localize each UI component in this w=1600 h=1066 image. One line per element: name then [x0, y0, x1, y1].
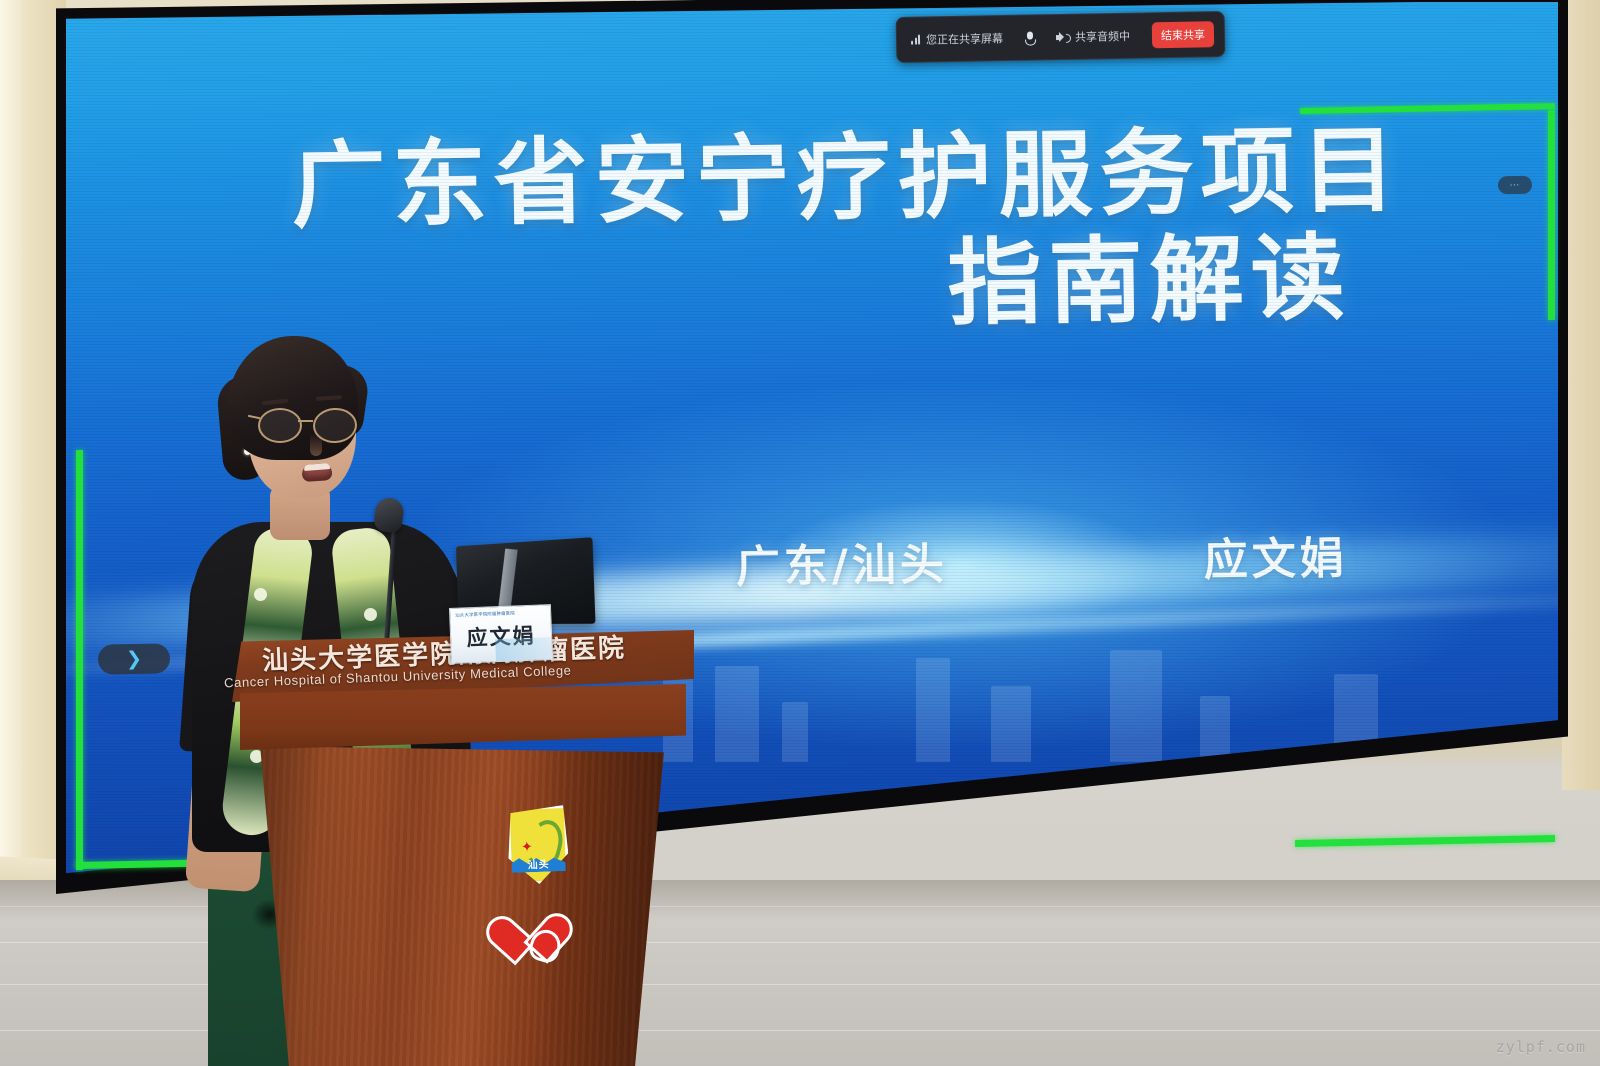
mic-toggle[interactable] [1025, 31, 1034, 44]
more-dots-icon: ⋯ [1509, 179, 1520, 190]
slide-title: 广东省安宁疗护服务项目 指南解读 [231, 116, 1464, 349]
chevron-right-icon: ❯ [126, 649, 142, 668]
university-crest-icon: ✦ 汕头 [507, 805, 570, 885]
heart-logo-icon [508, 908, 575, 973]
microphone-icon [1025, 31, 1034, 44]
nameplate-graphic [495, 637, 552, 661]
speaker-icon [1056, 31, 1069, 42]
signal-bars-icon [911, 35, 920, 45]
wall-panel-left-inner [0, 0, 22, 905]
slide-title-line-2: 指南解读 [233, 223, 1464, 348]
share-border-left [76, 450, 83, 870]
crest-label: 汕头 [508, 855, 568, 872]
more-options-button[interactable]: ⋯ [1498, 176, 1532, 195]
end-share-button[interactable]: 结束共享 [1152, 21, 1214, 48]
slide-title-line-1: 广东省安宁疗护服务项目 [231, 116, 1462, 241]
watermark: zylpf.com [1496, 1038, 1586, 1056]
expand-toolbar-button[interactable]: ❯ [98, 643, 171, 674]
podium-front-panel [240, 684, 686, 750]
nameplate-org: 汕头大学医学院附属肿瘤医院 [455, 610, 515, 618]
share-border-right [1548, 110, 1555, 320]
share-status: 您正在共享屏幕 [911, 30, 1003, 48]
slide-presenter-name: 应文娟 [1203, 522, 1348, 588]
slide-presenter-location: 广东/汕头 [735, 528, 948, 595]
screen-share-toolbar[interactable]: 您正在共享屏幕 共享音频中 结束共享 [896, 11, 1226, 63]
podium [232, 630, 694, 1066]
podium-shading [256, 746, 668, 1066]
speaker-nose [310, 434, 322, 456]
share-status-label: 您正在共享屏幕 [926, 30, 1003, 47]
screenshot-root: 广东省安宁疗护服务项目 指南解读 广东/汕头 应文娟 ❯ ⋯ 您正在共享屏幕 [0, 0, 1600, 1066]
audio-share-status[interactable]: 共享音频中 [1056, 28, 1130, 45]
speaker-nameplate: 汕头大学医学院附属肿瘤医院 应文娟 [449, 604, 553, 664]
audio-share-label: 共享音频中 [1075, 28, 1130, 45]
